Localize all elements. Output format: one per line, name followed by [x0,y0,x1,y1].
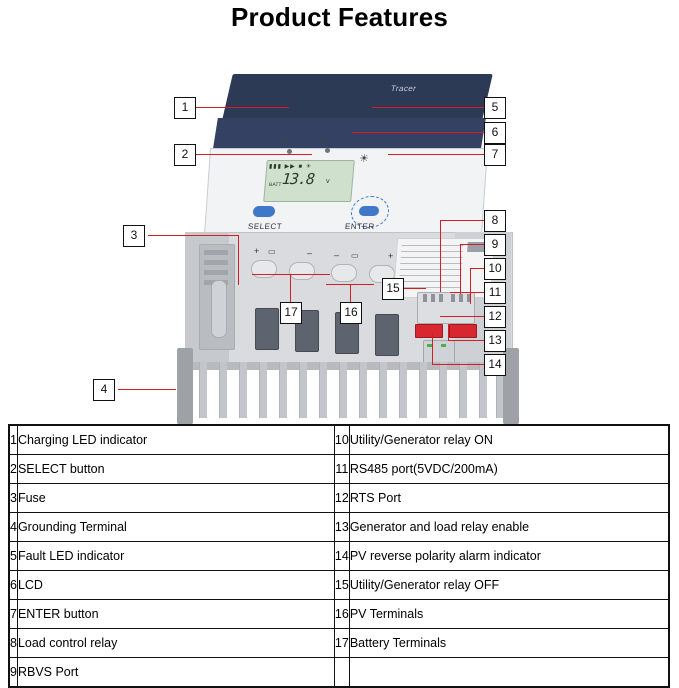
legend-label: SELECT button [17,455,334,484]
legend-num: 7 [10,600,18,629]
callout-16[interactable]: 16 [340,302,362,324]
terminal-sign-plus-battery: + [254,246,259,256]
legend-num: 5 [10,542,18,571]
callout-10[interactable]: 10 [484,258,506,280]
callout-17[interactable]: 17 [280,302,302,324]
legend-table: 1 Charging LED indicator 10 Utility/Gene… [8,424,670,688]
legend-label: RBVS Port [17,658,334,687]
legend-num: 17 [334,629,349,658]
legend-num: 8 [10,629,18,658]
battery-icon: ▭ [268,247,276,256]
callout-2[interactable]: 2 [174,144,196,166]
legend-num-empty [334,658,349,687]
callout-3[interactable]: 3 [123,225,145,247]
callout-9[interactable]: 9 [484,234,506,256]
legend-num: 12 [334,484,349,513]
table-row: 2 SELECT button 11 RS485 port(5VDC/200mA… [10,455,669,484]
legend-label: Load control relay [17,629,334,658]
legend-label: ENTER button [17,600,334,629]
fault-icon: ⚠ [320,135,329,146]
callout-13[interactable]: 13 [484,330,506,352]
legend-label: RTS Port [349,484,668,513]
pv-terminal-negative [331,264,357,282]
enter-button-label: ENTER [345,222,375,231]
generator-load-relay-enable [441,344,446,347]
device-illustration: Tracer ☷ ⚠ ☀ ▮▮▮ ▶▶ ■ ☀ 13.8 v BATT SELE… [155,48,535,428]
legend-label: Battery Terminals [349,629,668,658]
legend-label: Grounding Terminal [17,513,334,542]
heatsink [191,362,507,424]
grounding-terminal-post [211,280,227,338]
product-diagram: Tracer ☷ ⚠ ☀ ▮▮▮ ▶▶ ■ ☀ 13.8 v BATT SELE… [0,36,679,418]
legend-label: Charging LED indicator [17,426,334,455]
select-button[interactable] [253,206,276,217]
legend-label: RS485 port(5VDC/200mA) [349,455,668,484]
utility-generator-relay-on [449,324,477,338]
callout-1[interactable]: 1 [174,97,196,119]
legend-num: 14 [334,542,349,571]
table-row: 9 RBVS Port [10,658,669,687]
table-row: 1 Charging LED indicator 10 Utility/Gene… [10,426,669,455]
utility-generator-relay-off [415,324,443,338]
legend-label: PV reverse polarity alarm indicator [349,542,668,571]
callout-12[interactable]: 12 [484,306,506,328]
legend-num: 4 [10,513,18,542]
legend-label: Fault LED indicator [17,542,334,571]
cable-port [375,314,399,356]
callout-14[interactable]: 14 [484,354,506,376]
lcd-icon-row: ▮▮▮ ▶▶ ■ ☀ [269,163,313,170]
table-row: 8 Load control relay 17 Battery Terminal… [10,629,669,658]
legend-num: 1 [10,426,18,455]
legend-num: 16 [334,600,349,629]
table-row: 6 LCD 15 Utility/Generator relay OFF [10,571,669,600]
battery-terminal-positive [251,260,277,278]
callout-5[interactable]: 5 [484,97,506,119]
legend-num: 3 [10,484,18,513]
select-button-label: SELECT [248,222,283,231]
callout-8[interactable]: 8 [484,210,506,232]
legend-label: Utility/Generator relay OFF [349,571,668,600]
legend-label: Generator and load relay enable [349,513,668,542]
legend-num: 10 [334,426,349,455]
legend-label: PV Terminals [349,600,668,629]
charging-icon: ☷ [281,136,290,147]
brand-label: Tracer [390,84,417,93]
callout-4[interactable]: 4 [93,379,115,401]
table-row: 5 Fault LED indicator 14 PV reverse pola… [10,542,669,571]
pv-icon: ▭ [351,251,359,260]
legend-num: 2 [10,455,18,484]
legend-label-empty [349,658,668,687]
legend-label: Fuse [17,484,334,513]
battery-terminal-negative [289,262,315,280]
relay-pin [439,294,443,302]
table-row: 3 Fuse 12 RTS Port [10,484,669,513]
device-top-face [221,74,493,124]
callout-11[interactable]: 11 [484,282,506,304]
lcd-batt-label: BATT [269,182,282,188]
legend-num: 11 [334,455,349,484]
legend-label: Utility/Generator relay ON [349,426,668,455]
legend-num: 9 [10,658,18,687]
pv-sun-icon: ☀ [358,152,369,165]
legend-num: 6 [10,571,18,600]
legend-num: 13 [334,513,349,542]
mounting-foot-left [177,348,193,424]
terminal-sign-minus-battery: – [307,248,312,258]
table-row: 7 ENTER button 16 PV Terminals [10,600,669,629]
terminal-sign-minus-pv: – [334,250,339,260]
callout-7[interactable]: 7 [484,144,506,166]
legend-label: LCD [17,571,334,600]
callout-6[interactable]: 6 [484,122,506,144]
relay-pin [431,294,435,302]
legend-num: 15 [334,571,349,600]
relay-pin [459,294,463,302]
relay-pin [451,294,455,302]
lcd-unit: v [326,178,330,185]
fuse-slot [204,270,228,275]
enter-button[interactable] [359,206,380,216]
fuse-slot [204,250,228,255]
callout-15[interactable]: 15 [382,278,404,300]
fault-led-indicator [325,148,330,153]
table-row: 4 Grounding Terminal 13 Generator and lo… [10,513,669,542]
cable-port [255,308,279,350]
relay-pin [423,294,427,302]
fuse-slot [204,260,228,265]
terminal-sign-plus-pv: + [388,251,393,261]
lcd-value: 13.8 [281,170,315,188]
page-title: Product Features [0,0,679,33]
